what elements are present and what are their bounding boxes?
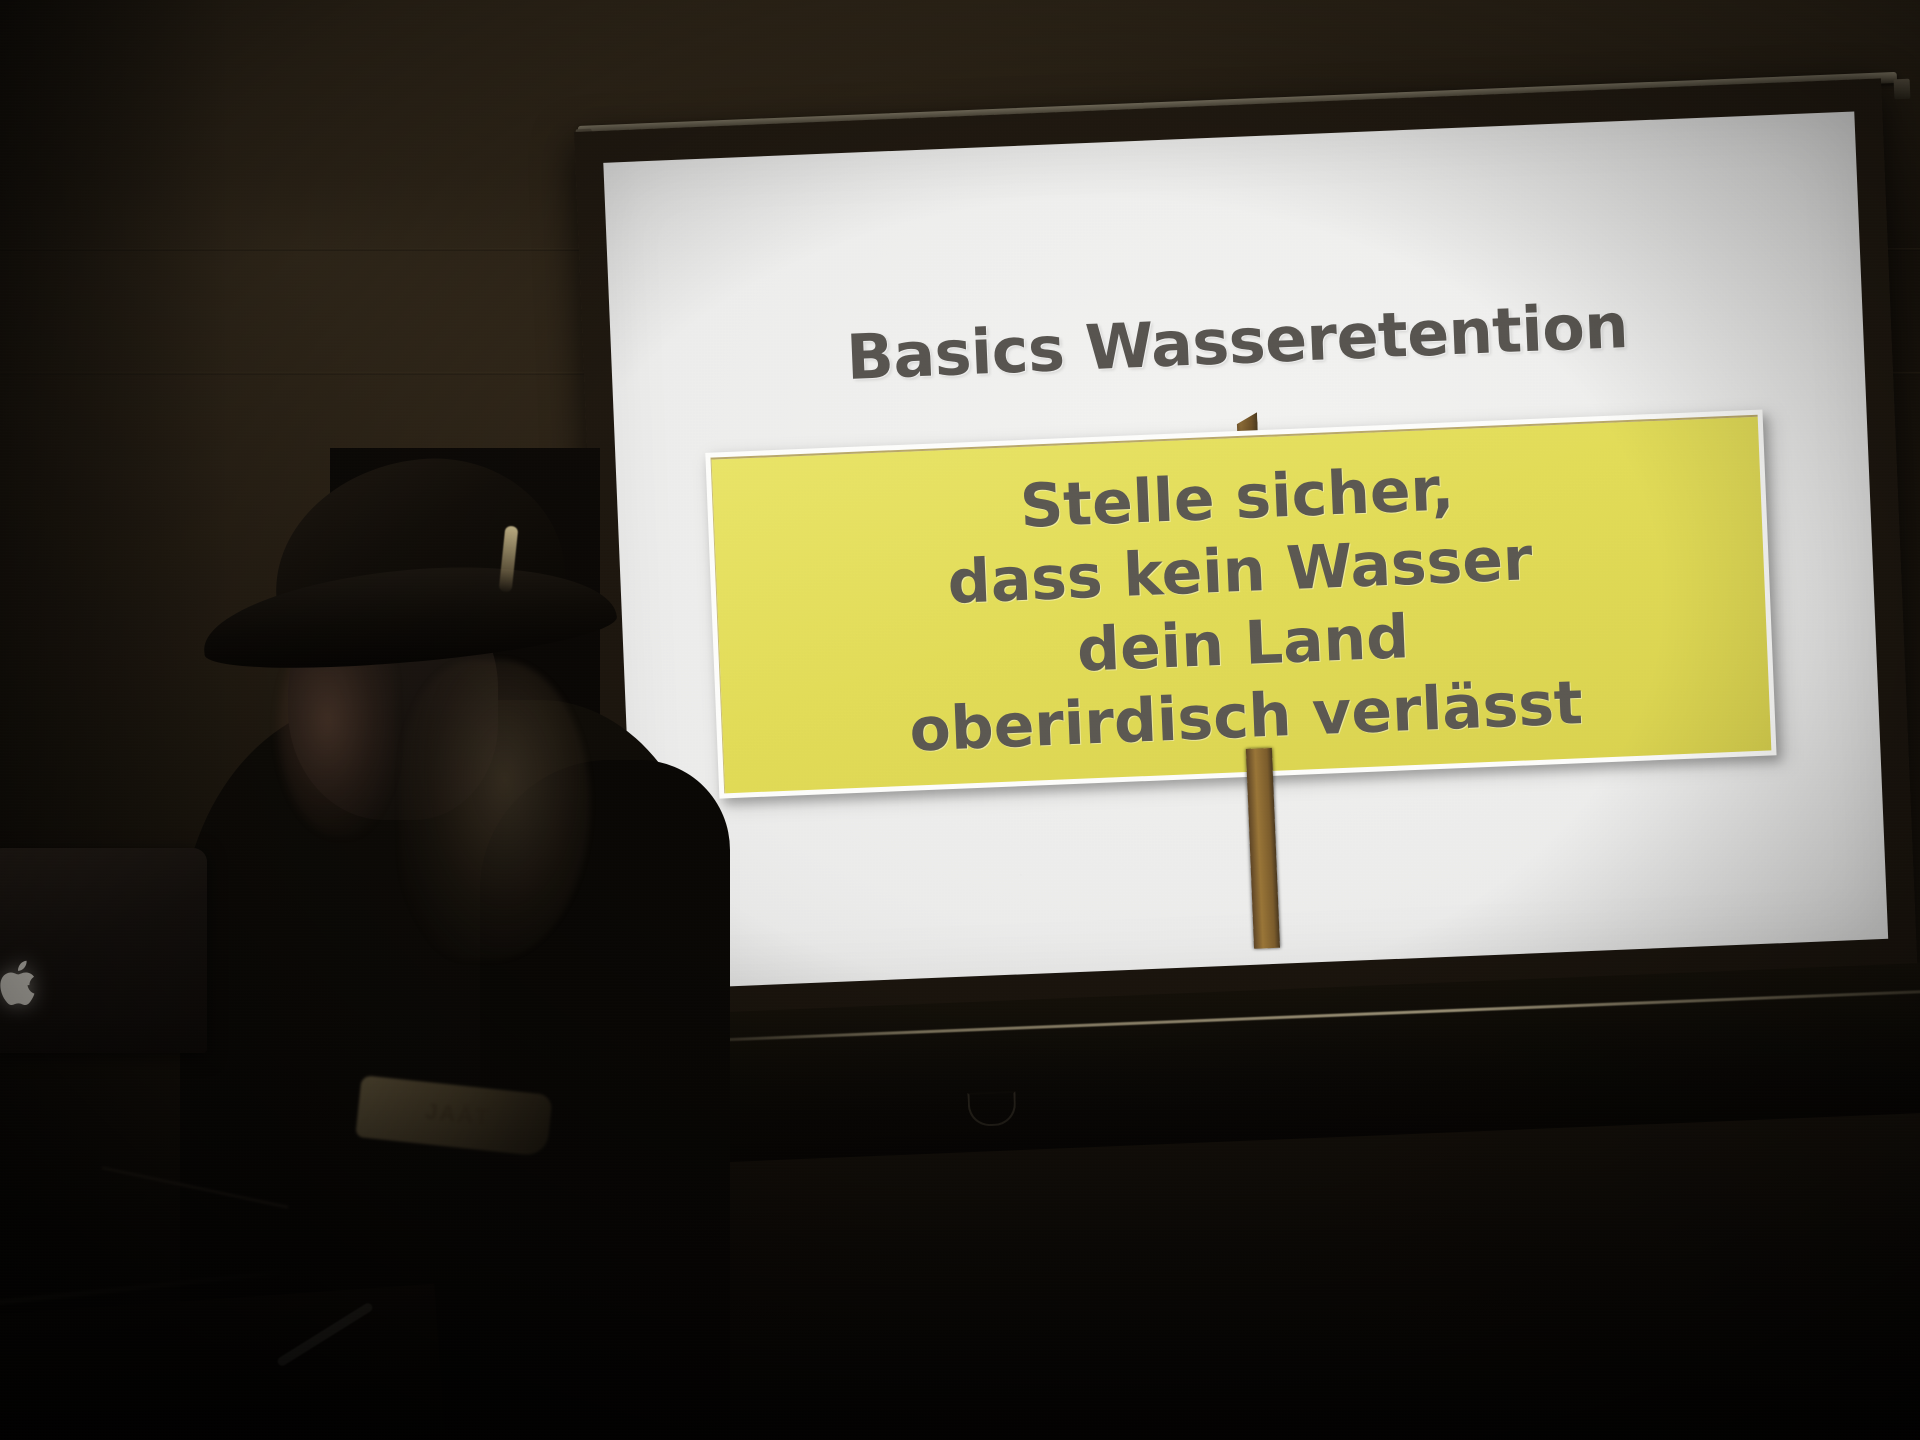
photo-scene: Basics Wasseretention Stelle sicher, das…	[0, 0, 1920, 1440]
slide-title: Basics Wasseretention	[610, 279, 1864, 403]
bottom-shadow	[0, 1010, 1920, 1440]
sign-line-3: dein Land	[1076, 601, 1411, 688]
yellow-sign: Stelle sicher, dass kein Wasser dein Lan…	[705, 410, 1776, 799]
projected-slide: Basics Wasseretention Stelle sicher, das…	[603, 111, 1888, 990]
yellow-sign-face: Stelle sicher, dass kein Wasser dein Lan…	[710, 415, 1771, 794]
screen-rail-end-right	[1894, 79, 1911, 100]
apple-logo-icon	[0, 958, 42, 1010]
